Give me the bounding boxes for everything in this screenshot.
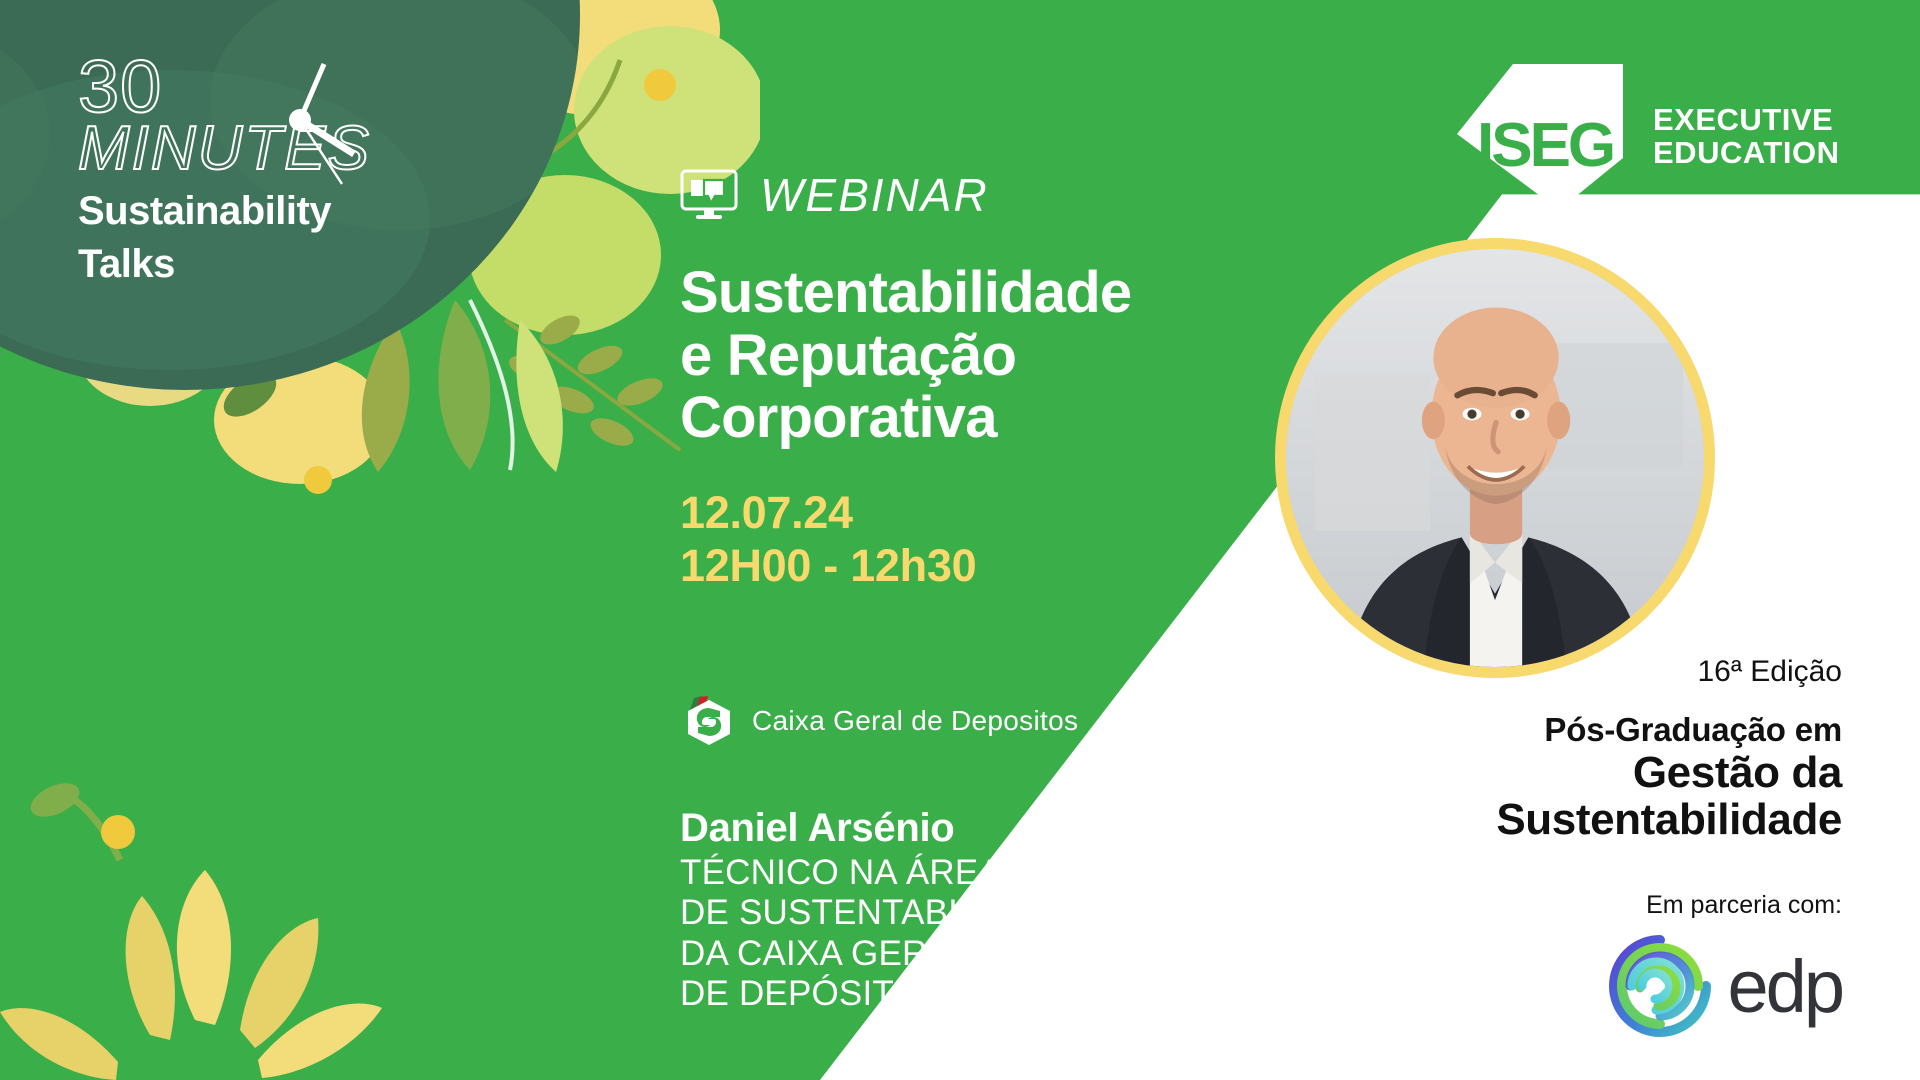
webinar-title: Sustentabilidade e Reputação Corporativa (680, 262, 1200, 450)
webinar-title-line-1: Sustentabilidade (680, 262, 1200, 325)
speaker-name: Daniel Arsénio (680, 806, 1200, 851)
institution-tagline: EXECUTIVE EDUCATION (1653, 104, 1839, 170)
program-course-line-1: Gestão da (1202, 749, 1842, 796)
webinar-label: WEBINAR (760, 168, 989, 222)
svg-text:ISEG: ISEG (1477, 111, 1613, 180)
speaker-role-line-2: DE SUSTENTABILIDADE (680, 893, 1200, 933)
program-info: 16ª Edição Pós-Graduação em Gestão da Su… (1202, 655, 1842, 1040)
monitor-speech-bubble-icon (680, 169, 738, 221)
institution-logo: ISEG EXECUTIVE EDUCATION (1455, 62, 1839, 212)
speaker-role: TÉCNICO NA ÁREA DE SUSTENTABILIDADE DA C… (680, 853, 1200, 1014)
sponsor-logo: Caixa Geral de Depositos (680, 694, 1200, 748)
webinar-datetime: 12.07.24 12H00 - 12h30 (680, 486, 1200, 592)
speaker-role-line-3: DA CAIXA GERAL (680, 934, 1200, 974)
partner-label: Em parceria com: (1202, 891, 1842, 920)
speaker-portrait (1275, 238, 1715, 678)
speaker-role-line-4: DE DEPÓSITOS (680, 974, 1200, 1014)
institution-tagline-line-1: EXECUTIVE (1653, 104, 1839, 137)
sponsor-name: Caixa Geral de Depositos (752, 705, 1078, 737)
institution-tagline-line-2: EDUCATION (1653, 137, 1839, 170)
program-degree: Pós-Graduação em (1202, 711, 1842, 749)
webinar-label-row: WEBINAR (680, 168, 1200, 222)
program-course-line-2: Sustentabilidade (1202, 796, 1842, 843)
edp-spiral-icon (1606, 932, 1714, 1040)
partner-name: edp (1728, 944, 1842, 1029)
webinar-promo-banner: 30 MINUTES Sustainability Talks WEBINAR … (0, 0, 1920, 1080)
webinar-title-line-2: e Reputação (680, 325, 1200, 388)
program-edition: 16ª Edição (1202, 655, 1842, 689)
iseg-shield-icon: ISEG (1455, 62, 1627, 212)
webinar-time: 12H00 - 12h30 (680, 539, 1200, 592)
cgd-hexagon-icon (680, 694, 738, 748)
webinar-info-column: WEBINAR Sustentabilidade e Reputação Cor… (680, 168, 1200, 1014)
series-name-line-2: Talks (78, 243, 498, 286)
partner-logo: edp (1202, 932, 1842, 1040)
webinar-date: 12.07.24 (680, 486, 1200, 539)
speaker-role-line-1: TÉCNICO NA ÁREA (680, 853, 1200, 893)
webinar-title-line-3: Corporativa (680, 387, 1200, 450)
clock-hands-icon (258, 46, 438, 216)
series-lockup: 30 MINUTES Sustainability Talks (78, 52, 498, 287)
